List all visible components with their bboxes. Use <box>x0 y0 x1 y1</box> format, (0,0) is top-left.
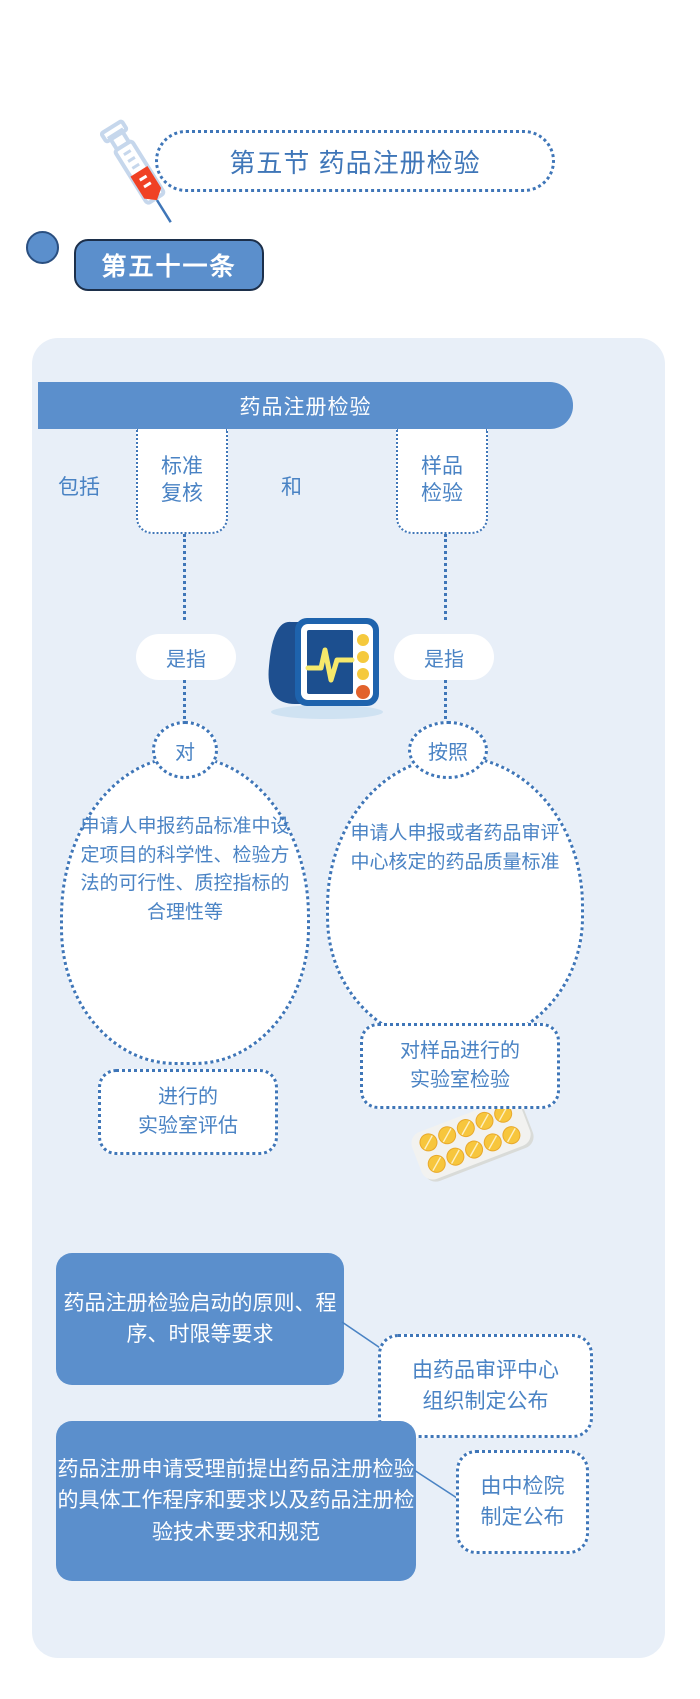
infographic-page: 第五节 药品注册检验 第五十一条 药品注册检验 包括 和 标准复核 样品检验 是… <box>0 0 700 1699</box>
term-sample-testing-label: 样品检验 <box>421 454 463 507</box>
sub-line-1: 进行的 <box>158 1086 218 1108</box>
connector-line <box>183 534 186 620</box>
definition-left-sub-label: 进行的实验室评估 <box>138 1083 238 1141</box>
rule-statement-box-1: 药品注册检验启动的原则、程序、时限等要求 <box>56 1253 344 1385</box>
term-line-1: 样品 <box>421 455 463 478</box>
sub-line-2: 实验室评估 <box>138 1115 238 1137</box>
left-means-label: 是指 <box>166 643 206 672</box>
inclusion-row: 包括 和 标准复核 样品检验 <box>38 429 573 539</box>
term-line-1: 标准 <box>161 455 203 478</box>
article-badge-label: 第五十一条 <box>101 247 236 283</box>
authority-line-2: 组织制定公布 <box>423 1390 549 1413</box>
rule-statement-box-2: 药品注册申请受理前提出药品注册检验的具体工作程序和要求以及药品注册检验技术要求和… <box>56 1421 416 1581</box>
ecg-monitor-icon <box>251 608 399 720</box>
header-section: 第五节 药品注册检验 <box>0 58 700 188</box>
definition-bubble-sample-testing: 申请人申报或者药品审评中心核定的药品质量标准 <box>326 755 584 1045</box>
card-title: 药品注册检验 <box>240 391 372 421</box>
authority-line-1: 由药品审评中心 <box>412 1359 559 1382</box>
definition-left-subbox: 进行的实验室评估 <box>98 1069 278 1155</box>
left-means-pill: 是指 <box>136 634 236 680</box>
rule-authority-2: 由中检院制定公布 <box>481 1471 565 1534</box>
inclusion-conjunction-label: 和 <box>281 471 302 501</box>
right-preposition-label: 按照 <box>428 736 468 765</box>
connector-line <box>444 680 447 725</box>
left-preposition-label: 对 <box>175 736 195 765</box>
term-standard-review-label: 标准复核 <box>161 454 203 507</box>
rule-authority-1: 由药品审评中心组织制定公布 <box>412 1355 559 1418</box>
circle-bullet-icon <box>26 231 59 264</box>
right-means-label: 是指 <box>424 643 464 672</box>
connector-line <box>444 534 447 620</box>
card-title-bar: 药品注册检验 <box>38 382 573 429</box>
authority-line-1: 由中检院 <box>481 1475 565 1498</box>
term-box-sample-testing[interactable]: 样品检验 <box>396 429 488 534</box>
term-line-2: 检验 <box>421 482 463 505</box>
sub-line-1: 对样品进行的 <box>400 1040 520 1062</box>
section-title: 第五节 药品注册检验 <box>229 143 480 180</box>
term-box-standard-review[interactable]: 标准复核 <box>136 429 228 534</box>
term-line-2: 复核 <box>161 482 203 505</box>
article-badge[interactable]: 第五十一条 <box>74 239 264 291</box>
rule-statement-1: 药品注册检验启动的原则、程序、时限等要求 <box>56 1288 344 1351</box>
right-preposition-ellipse: 按照 <box>408 721 488 779</box>
rule-authority-box-1: 由药品审评中心组织制定公布 <box>378 1334 593 1438</box>
definition-right-subbox: 对样品进行的实验室检验 <box>360 1023 560 1109</box>
rule-statement-2: 药品注册申请受理前提出药品注册检验的具体工作程序和要求以及药品注册检验技术要求和… <box>56 1454 416 1549</box>
sub-line-2: 实验室检验 <box>410 1069 510 1091</box>
connector-line <box>183 680 186 725</box>
inclusion-prefix-label: 包括 <box>58 471 100 501</box>
authority-line-2: 制定公布 <box>481 1506 565 1529</box>
definition-left-body: 申请人申报药品标准中设定项目的科学性、检验方法的可行性、质控指标的合理性等 <box>63 758 307 927</box>
section-title-pill: 第五节 药品注册检验 <box>155 130 555 192</box>
definition-right-sub-label: 对样品进行的实验室检验 <box>400 1037 520 1095</box>
rule-authority-box-2: 由中检院制定公布 <box>456 1450 589 1554</box>
right-means-pill: 是指 <box>394 634 494 680</box>
definition-bubble-standard-review: 申请人申报药品标准中设定项目的科学性、检验方法的可行性、质控指标的合理性等 <box>60 755 310 1065</box>
left-preposition-ellipse: 对 <box>152 721 218 779</box>
